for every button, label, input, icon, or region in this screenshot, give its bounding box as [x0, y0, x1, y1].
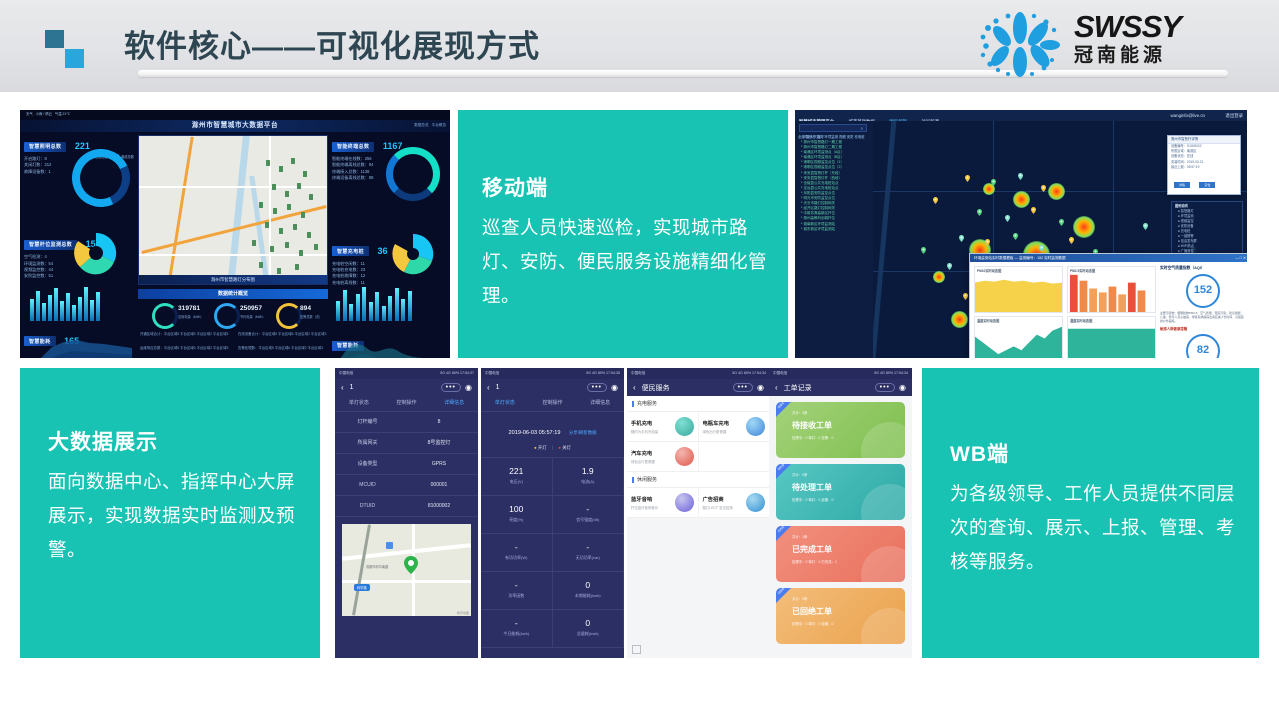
block-bigdata-body: 面向数据中心、指挥中心大屏展示，实现数据实时监测及预警。 [48, 465, 304, 567]
service-row: 汽车充电 绿色出行更便捷 [627, 442, 770, 472]
gis-map-pin[interactable] [1041, 179, 1046, 186]
phone3-navbar[interactable]: ‹ 便民服务 ••• ◉ [627, 379, 770, 396]
work-order-card[interactable]: 已完成 共计：1条 已完成工单 处理中：0 单灯：0 已完成：1 [776, 526, 905, 582]
car-charge-icon [675, 447, 694, 466]
metric-label: 亮度(%) [481, 517, 552, 523]
phone2-navbar[interactable]: ‹ 1 ••• ◉ [481, 379, 624, 396]
charging-pie-chart [384, 231, 442, 277]
card-count: 共计：1条 [792, 534, 807, 539]
gis-tree-header: 全部 智慧杆 路灯 环境监测 视频 安防 充电桩 [798, 134, 865, 139]
aqi-desc-main: 主要污染物：细颗粒物PM2.5；空气质量：轻度污染；建议措施：儿童、老年人及心脏… [1160, 311, 1246, 324]
metric-label: 本期能耗(kwh) [553, 593, 624, 599]
terminal-donut-chart [386, 147, 440, 201]
target-icon[interactable]: ◉ [611, 383, 618, 392]
card-count: 共计：0条 [792, 472, 807, 477]
panel-pole: 智慧杆位监测总数 153 空气检测：4 环境监测数：54 视频监控数：44 安防… [24, 233, 134, 280]
phone2-refresh-link[interactable]: 分享/刷新数据 [569, 430, 597, 435]
phone1-map[interactable]: 科华路 成都市科华南路 腾讯地图 [342, 524, 471, 616]
aqi-window-title: 环境监测站实时数据看板 — 监测编号：152 实时监测数据 — □ ✕ [970, 254, 1247, 262]
pole-pie-chart [68, 231, 124, 275]
phone2-statusbar: 中国电信 5G 4G 80% 17:54:35 [481, 368, 624, 379]
close-icon[interactable]: — □ ✕ [1235, 254, 1246, 262]
dashboard-topbar [20, 110, 450, 119]
phone2-metric-cell: - 有功功率(W) [481, 534, 553, 572]
phone3-statusbar: 中国电信 5G 4G 80% 17:54:34 [627, 368, 770, 379]
search-icon[interactable]: ⌕ [861, 126, 863, 131]
gauge-1-label: 总用电量（kWh） [178, 314, 204, 319]
phone4-work-order-cards[interactable]: 待接收 共计：3条 待接收工单 处理中：0 单灯：0 告警：0 待处理 共计：0… [769, 402, 912, 644]
phone2-tab-status[interactable]: 单灯状态 [481, 396, 529, 411]
gis-heat-blob [1048, 183, 1065, 200]
service-item[interactable]: 汽车充电 绿色出行更便捷 [627, 442, 699, 471]
gauge-3-label: 告警总数（次） [300, 314, 322, 319]
dashboard-left-column: 智慧照明总数 221 在线总数 离线总数 开启路灯：8 关闭灯数：212 故障设… [24, 135, 134, 358]
more-icon[interactable]: ••• [587, 383, 607, 392]
service-subtitle: 绿色出行更便捷 [703, 429, 730, 434]
slide-header: 软件核心——可视化展现方式 [0, 0, 1279, 92]
gis-map-pin[interactable] [947, 257, 952, 264]
dashboard-kv-row-1: 开通区域合计：平台区域5 平台区域6 平台区域2 平台区域3 [140, 331, 228, 336]
phone2-metrics-grid: 221 电压(V)1.9 电流(A)100 亮度(%)- 信号强度(db)- 有… [481, 458, 624, 648]
work-order-card[interactable]: 待处理 共计：0条 待处理工单 处理中：0 单灯：0 延期：0 [776, 464, 905, 520]
gis-search-box[interactable]: 请输入关键字 ⌕ [799, 124, 867, 132]
card-decor-blob [861, 484, 905, 520]
gis-map-pin[interactable] [1039, 239, 1044, 246]
bluetooth-speaker-icon [675, 493, 694, 512]
back-icon[interactable]: ‹ [633, 383, 636, 392]
aqi-summary: 实时空气质量指数（AQI） 152 主要污染物：细颗粒物PM2.5；空气质量：轻… [1160, 266, 1246, 358]
phone3-title: 便民服务 [642, 383, 670, 393]
block-web-heading: WB端 [950, 438, 1259, 468]
metric-value: 0 [553, 580, 624, 590]
service-title: 蓝牙音响 [631, 495, 658, 503]
gis-map-pin[interactable] [1059, 213, 1064, 220]
dashboard-right-column: 智能终端总数 1167 智能终端在线数：256 智能终端离线总数：94 终端接入… [332, 135, 446, 358]
panel-lighting: 智慧照明总数 221 在线总数 离线总数 开启路灯：8 关闭灯数：212 故障设… [24, 135, 134, 175]
phone2-metric-cell: 1.9 电流(A) [553, 458, 625, 496]
gis-navbar[interactable]: 智慧城市管理平台 城市基础数据 图层控制 运行监测 wanginfo@live.… [795, 110, 1247, 121]
detail-value: 000001 [400, 475, 478, 495]
phone2-timestamp-area: 2019-06-03 05:57:19 分享/刷新数据 ● 开灯 | ● 关灯 [481, 412, 624, 458]
aqi-col-2: PM2.5实时动态图 [1067, 266, 1156, 358]
gis-map-pin[interactable] [963, 287, 968, 294]
chart-humidity: 湿度实时动态图 [1067, 316, 1156, 358]
card-title: 待接收工单 [792, 420, 832, 431]
metric-value: 0 [553, 618, 624, 628]
phone3-service-list[interactable]: 充电服务手机充电 随时为手机充电量 电瓶车充电 绿色出行更便捷 汽车充电 绿色出… [627, 396, 770, 518]
card-footer: 处理中：0 单灯：0 已完成：1 [792, 559, 837, 564]
billboard-icon [746, 493, 765, 512]
gis-map-pin[interactable] [1005, 209, 1010, 216]
gauge-3-value: 894 [300, 305, 311, 312]
detail-value: 8 [400, 412, 478, 432]
company-logo: SWSSY 冠南能源 [974, 6, 1224, 84]
gis-map-pin[interactable] [921, 241, 926, 248]
chart-pm25-title: PM2.5实时动态图 [1070, 268, 1095, 273]
metric-label: 电流(A) [553, 479, 624, 485]
gis-user[interactable]: wanginfo@live.cn [1171, 110, 1205, 121]
weather-cond: 小雨 / 晴云 [36, 112, 52, 116]
service-row: 蓝牙音响 杆位蓝牙音响音乐 广告招商 路灯LED广告位招商 [627, 488, 770, 518]
service-section-header: 充电服务 [627, 396, 770, 412]
gis-map-pin[interactable] [1093, 243, 1098, 250]
gis-heat-blob [933, 271, 945, 283]
gis-map-screenshot[interactable]: 智慧城市管理平台 城市基础数据 图层控制 运行监测 wanginfo@live.… [795, 110, 1247, 358]
ebike-charge-icon [746, 417, 765, 436]
phone1-tab-detail[interactable]: 详细信息 [430, 396, 478, 411]
gauge-2-ring [214, 303, 240, 329]
phone1-map-badge: 科华路 [354, 584, 370, 591]
gauge-1-value: 319781 [178, 305, 200, 312]
block-mobile: 移动端 巡查人员快速巡检，实现城市路灯、安防、便民服务设施精细化管理。 [458, 110, 788, 358]
block-bigdata-heading: 大数据展示 [48, 426, 320, 456]
energy-bar-chart-2 [336, 285, 412, 321]
gis-popup-title: 滁州市智慧杆详情 [1168, 136, 1240, 144]
service-title: 汽车充电 [631, 449, 655, 457]
weather-temp: 气温 21℃ [55, 112, 70, 116]
metric-value: 221 [481, 466, 552, 476]
dashboard-title: 滁州市智慧城市大数据平台 [20, 120, 450, 132]
metric-label: 有功功率(W) [481, 555, 552, 561]
phone2-timestamp: 2019-06-03 05:57:19 [509, 430, 561, 436]
phone1-tabs[interactable]: 单灯状态 控制操作 详细信息 [335, 396, 478, 412]
security-area-chart [28, 331, 132, 358]
service-section-header: 休闲服务 [627, 472, 770, 488]
card-count: 共计：3条 [792, 410, 807, 415]
phone3-status-right: 5G 4G 80% 17:54:34 [732, 368, 766, 379]
lamp-off-icon: ● [558, 445, 561, 450]
card-title: 已完成工单 [792, 544, 832, 555]
phone2-state-on: 开灯 [538, 445, 547, 450]
phone1-map-attribution: 腾讯地图 [457, 611, 469, 615]
phone1-detail-row: DTUID81000002 [335, 496, 478, 517]
chart-humidity-title: 湿度实时动态图 [1070, 318, 1092, 323]
chart-pm25: PM2.5实时动态图 [1067, 266, 1156, 313]
metric-value: - [553, 504, 624, 514]
service-item[interactable]: 手机充电 随时为手机充电量 [627, 412, 699, 441]
slide-root: 软件核心——可视化展现方式 [0, 0, 1279, 720]
phone2-metric-cell: 0 本期能耗(kwh) [553, 572, 625, 610]
metric-value: - [481, 542, 552, 552]
dashboard-body: 智慧照明总数 221 在线总数 离线总数 开启路灯：8 关闭灯数：212 故障设… [20, 133, 450, 358]
gis-map-pin[interactable] [965, 169, 970, 176]
panel-lighting-value: 221 [75, 141, 90, 151]
dashboard-map[interactable]: 滁州市智慧路灯分布图 [138, 135, 328, 285]
aqi-panel-title: 实时空气质量指数（AQI） [1160, 266, 1246, 271]
service-title: 电瓶车充电 [703, 419, 730, 427]
gis-map-pin[interactable] [933, 191, 938, 198]
logo-cn-text: 冠南能源 [1074, 44, 1181, 68]
panel-lighting-label: 智慧照明总数 [24, 142, 66, 152]
metric-value: 1.9 [553, 466, 624, 476]
block-bigdata: 大数据展示 面向数据中心、指挥中心大屏展示，实现数据实时监测及预警。 [20, 368, 320, 658]
metric-value: 100 [481, 504, 552, 514]
block-web: WB端 为各级领导、工作人员提供不同层次的查询、展示、上报、管理、考核等服务。 [922, 368, 1259, 658]
detail-value: 81000002 [400, 496, 478, 516]
target-icon[interactable]: ◉ [757, 383, 764, 392]
phone-lamp-realtime[interactable]: 中国电信 5G 4G 80% 17:54:35 ‹ 1 ••• ◉ 单灯状态 控… [481, 368, 624, 658]
dashboard-gauges: 319781 总用电量（kWh） 250957 节约电量（kWh） 894 告警… [138, 301, 328, 327]
phone4-status-right: 5G 4G 80% 17:54:34 [874, 368, 908, 379]
service-row: 手机充电 随时为手机充电量 电瓶车充电 绿色出行更便捷 [627, 412, 770, 442]
water-droplet-petals-logo-icon [974, 10, 1066, 80]
metric-label: 无功功率(var) [553, 555, 624, 561]
detail-value: 8号监控灯 [400, 433, 478, 453]
target-icon[interactable]: ◉ [899, 383, 906, 392]
gis-popup-row-5: 最近上报：05:57:19 [1168, 165, 1240, 170]
gis-map-pin[interactable] [1013, 227, 1018, 234]
gis-legend-title: 图例说明 [1172, 202, 1242, 209]
phone1-detail-row: 灯杆编号8 [335, 412, 478, 433]
chart-temp-title: 温度实时动态图 [977, 318, 999, 323]
trend-area-chart [334, 331, 444, 358]
logo-en-text: SWSSY [1074, 10, 1181, 44]
aqi-window[interactable]: 环境监测站实时数据看板 — 监测编号：152 实时监测数据 — □ ✕ PM10… [969, 253, 1247, 358]
service-item-empty [699, 442, 771, 471]
lamp-on-icon: ● [534, 445, 537, 450]
phone2-tab-control[interactable]: 控制操作 [529, 396, 577, 411]
phone2-metric-cell: 0 总量耗(kwh) [553, 610, 625, 648]
card-footer: 处理中：0 单灯：0 告警：0 [792, 435, 833, 440]
dashboard-stat-strip: 数据统计概览 [138, 289, 328, 299]
panel-charging-label: 智慧充电桩 [332, 246, 369, 256]
work-order-card[interactable]: 待接收 共计：3条 待接收工单 处理中：0 单灯：0 告警：0 [776, 402, 905, 458]
card-count: 共计：0条 [792, 596, 807, 601]
gauge-2-label: 节约电量（kWh） [240, 314, 266, 319]
phone1-map-label: 成都市科华南路 [366, 564, 388, 569]
detail-key: 灯杆编号 [335, 412, 400, 432]
service-title: 手机充电 [631, 419, 658, 427]
phone4-navbar[interactable]: ‹ 工单记录 ••• ◉ [769, 379, 912, 396]
panel-terminal-label: 智能终端总数 [332, 142, 374, 152]
gis-layer-tree[interactable]: 请输入关键字 ⌕ 全部 智慧杆 路灯 环境监测 视频 安防 充电桩 └ 滁州市智… [795, 121, 873, 358]
gis-heat-blob [951, 311, 968, 328]
card-decor-blob [861, 422, 905, 458]
phone2-metric-cell: - 无功功率(var) [553, 534, 625, 572]
detail-key: MCUID [335, 475, 400, 495]
gis-map-pin[interactable] [977, 203, 982, 210]
weather-label: 天气 [26, 112, 33, 116]
gis-map-pin[interactable] [1031, 201, 1036, 208]
gis-tree-items[interactable]: └ 滁州市智慧路灯一期工程└ 滁州市智慧路灯二期工程└ 南谯区环境监测点（A区）… [800, 140, 871, 232]
metric-value: - [553, 542, 624, 552]
more-icon[interactable]: ••• [733, 383, 753, 392]
phone1-tab-control[interactable]: 控制操作 [383, 396, 431, 411]
gis-map-pin[interactable] [1069, 231, 1074, 238]
block-mobile-heading: 移动端 [482, 172, 788, 202]
gis-popup[interactable]: 滁州市智慧杆详情 设备编号：S1000002 所属区域：南谯区 设备状态：在线 … [1167, 135, 1241, 195]
phone3-carrier: 中国电信 [631, 368, 645, 379]
phone2-metric-cell: 100 亮度(%) [481, 496, 553, 534]
phone2-title: 1 [496, 384, 500, 391]
metric-label: 功率因数 [481, 593, 552, 599]
service-subtitle: 杆位蓝牙音响音乐 [631, 505, 658, 510]
detail-key: 设备类型 [335, 454, 400, 474]
card-decor-blob [861, 608, 905, 644]
phone2-status-right: 5G 4G 80% 17:54:35 [586, 368, 620, 379]
chart-temp: 温度实时动态图 [974, 316, 1063, 358]
service-subtitle: 随时为手机充电量 [631, 429, 658, 434]
panel-charging: 智慧充电桩 36 充电桩空闲数：11 充电桩充电数：23 充电桩故障数：12 充… [332, 240, 446, 287]
phone3-home-indicator-icon [632, 645, 641, 654]
phone4-statusbar: 中国电信 5G 4G 80% 17:54:34 [769, 368, 912, 379]
block-web-body: 为各级领导、工作人员提供不同层次的查询、展示、上报、管理、考核等服务。 [950, 477, 1243, 579]
phone1-navbar[interactable]: ‹ 1 ••• ◉ [335, 379, 478, 396]
phone1-detail-row: MCUID000001 [335, 475, 478, 496]
more-icon[interactable]: ••• [875, 383, 895, 392]
phone-public-service[interactable]: 中国电信 5G 4G 80% 17:54:34 ‹ 便民服务 ••• ◉ 充电服… [627, 368, 770, 658]
service-item[interactable]: 广告招商 路灯LED广告位招商 [699, 488, 771, 517]
work-order-card[interactable]: 已回绝 共计：0条 已回绝工单 处理中：0 单灯：0 延期：0 [776, 588, 905, 644]
phone1-statusbar: 中国电信 5G 4G 80% 17:54:37 [335, 368, 478, 379]
phone1-detail-row: 所属网关8号监控灯 [335, 433, 478, 454]
back-icon[interactable]: ‹ [775, 383, 778, 392]
phone1-detail-rows: 灯杆编号8所属网关8号监控灯设备类型GPRSMCUID000001DTUID81… [335, 412, 478, 517]
metric-value: - [481, 580, 552, 590]
back-icon[interactable]: ‹ [341, 383, 344, 392]
phone-work-orders[interactable]: 中国电信 5G 4G 80% 17:54:34 ‹ 工单记录 ••• ◉ 待接收… [769, 368, 912, 658]
more-icon[interactable]: ••• [441, 383, 461, 392]
gauge-3-ring [276, 303, 302, 329]
phone1-carrier: 中国电信 [339, 368, 353, 379]
gis-popup-detail-button[interactable]: 详情 [1174, 182, 1190, 188]
chart-pm10-title: PM10实时动态图 [977, 268, 1001, 273]
card-footer: 处理中：0 单灯：0 延期：0 [792, 497, 833, 502]
logo-wordmark: SWSSY 冠南能源 [1074, 10, 1181, 68]
phone2-metric-cell: - 今日能耗(kwh) [481, 610, 553, 648]
card-title: 待处理工单 [792, 482, 832, 493]
gis-logout[interactable]: 退出登录 [1225, 110, 1243, 121]
gauge-1-ring [152, 303, 178, 329]
phone2-tabs[interactable]: 单灯状态 控制操作 详细信息 [481, 396, 624, 412]
aqi-window-title-text: 环境监测站实时数据看板 — 监测编号：152 实时监测数据 [974, 256, 1066, 260]
detail-value: GPRS [400, 454, 478, 474]
gauge-2-value: 250957 [240, 305, 262, 312]
dashboard-menu-1[interactable]: 数据总览 [414, 123, 428, 127]
chart-pm10: PM10实时动态图 [974, 266, 1063, 313]
service-title: 广告招商 [703, 495, 733, 503]
aqi-col-1: PM10实时动态图 温度实时动态图 [974, 266, 1063, 358]
map-pin-icon[interactable] [404, 556, 418, 574]
service-subtitle: 路灯LED广告位招商 [703, 505, 733, 510]
phone1-tab-status[interactable]: 单灯状态 [335, 396, 383, 411]
gis-tree-item[interactable]: └ 城东新区环境监测站 [800, 227, 871, 232]
square-dark-icon [45, 30, 64, 48]
phone2-state-off: 关灯 [562, 445, 571, 450]
phone2-carrier: 中国电信 [485, 368, 499, 379]
gis-heat-blob [1013, 191, 1030, 208]
panel-terminal: 智能终端总数 1167 智能终端在线数：256 智能终端离线总数：94 终端接入… [332, 135, 446, 182]
energy-bar-chart [30, 285, 100, 321]
page-title: 软件核心——可视化展现方式 [124, 21, 540, 66]
bigdata-dashboard-screenshot[interactable]: 天气 小雨 / 晴云 气温 21℃ 滁州市智慧城市大数据平台 数据总览 平台概览… [20, 110, 450, 358]
aqi-value-main: 152 [1186, 274, 1220, 308]
gis-popup-locate-button[interactable]: 定位 [1199, 182, 1215, 188]
service-item[interactable]: 蓝牙音响 杆位蓝牙音响音乐 [627, 488, 699, 517]
dashboard-topright-menu[interactable]: 数据总览 平台概览 [414, 123, 446, 128]
card-footer: 处理中：0 单灯：0 延期：0 [792, 621, 833, 626]
detail-key: DTUID [335, 496, 400, 516]
dashboard-kv-row-3: 运维响应总数：平台区域5 平台区域6 平台区域2 平台区域3 [140, 345, 228, 350]
service-item[interactable]: 电瓶车充电 绿色出行更便捷 [699, 412, 771, 441]
block-mobile-body: 巡查人员快速巡检，实现城市路灯、安防、便民服务设施精细化管理。 [482, 211, 770, 313]
service-subtitle: 绿色出行更便捷 [631, 459, 655, 464]
gis-canvas[interactable]: 滁州市智慧杆详情 设备编号：S1000002 所属区域：南谯区 设备状态：在线 … [873, 121, 1247, 358]
metric-label: 电压(V) [481, 479, 552, 485]
phone1-title: 1 [350, 384, 354, 391]
phone1-status-right: 5G 4G 80% 17:54:37 [440, 368, 474, 379]
card-title: 已回绝工单 [792, 606, 832, 617]
gis-map-pin[interactable] [959, 229, 964, 236]
gis-heat-blob [1073, 216, 1095, 238]
phone2-metric-cell: - 信号强度(db) [553, 496, 625, 534]
gis-map-pin[interactable] [991, 173, 996, 180]
phone-lamp-detail[interactable]: 中国电信 5G 4G 80% 17:54:37 ‹ 1 ••• ◉ 单灯状态 控… [335, 368, 478, 658]
header-decoration-squares [45, 30, 87, 68]
phone4-title: 工单记录 [784, 383, 812, 393]
back-icon[interactable]: ‹ [487, 383, 490, 392]
phone2-metric-cell: - 功率因数 [481, 572, 553, 610]
metric-label: 今日能耗(kwh) [481, 631, 552, 637]
dashboard-kv-row-4: 告警处理数：平台区域5 平台区域6 平台区域2 平台区域3 [238, 345, 323, 350]
card-decor-blob [861, 546, 905, 582]
target-icon[interactable]: ◉ [465, 383, 472, 392]
dashboard-weather: 天气 小雨 / 晴云 气温 21℃ [26, 112, 70, 116]
dashboard-menu-2[interactable]: 平台概览 [432, 123, 446, 127]
aqi-grid: PM10实时动态图 温度实时动态图 [974, 266, 1246, 358]
gis-map-pin[interactable] [985, 233, 990, 240]
detail-key: 所属网关 [335, 433, 400, 453]
metric-label: 总量耗(kwh) [553, 631, 624, 637]
map-caption: 滁州市智慧路灯分布图 [139, 275, 327, 284]
square-blue-icon [65, 49, 84, 68]
dashboard-kv-row-2: 在线设备合计：平台区域5 平台区域6 平台区域2 平台区域3 [238, 331, 326, 336]
phone-charge-icon [675, 417, 694, 436]
aqi-sub-title: 敏感人群健康提醒 [1160, 326, 1246, 331]
metric-value: - [481, 618, 552, 628]
gis-map-pin[interactable] [1143, 217, 1148, 224]
metric-label: 信号强度(db) [553, 517, 624, 523]
phone4-carrier: 中国电信 [773, 368, 787, 379]
aqi-value-sub: 82 [1186, 334, 1220, 358]
phone1-detail-row: 设备类型GPRS [335, 454, 478, 475]
gis-map-pin[interactable] [1018, 167, 1023, 174]
phone2-tab-detail[interactable]: 详细信息 [576, 396, 624, 411]
phone2-metric-cell: 221 电压(V) [481, 458, 553, 496]
